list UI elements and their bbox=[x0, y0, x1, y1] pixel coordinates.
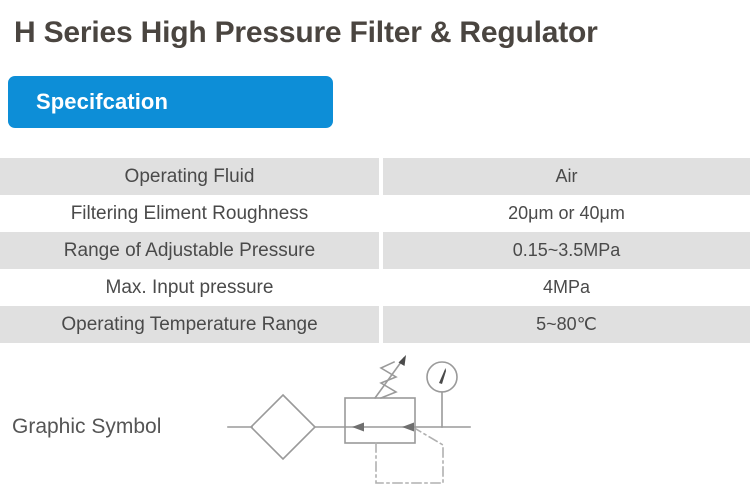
spec-value: 0.15~3.5MPa bbox=[383, 232, 750, 269]
pilot-line-icon bbox=[376, 429, 443, 483]
spec-value: Air bbox=[383, 158, 750, 195]
table-row: Filtering Eliment Roughness 20μm or 40μm bbox=[0, 195, 750, 232]
table-row: Max. Input pressure 4MPa bbox=[0, 269, 750, 306]
spec-label: Filtering Eliment Roughness bbox=[0, 195, 379, 232]
table-row: Range of Adjustable Pressure 0.15~3.5MPa bbox=[0, 232, 750, 269]
spec-label: Operating Temperature Range bbox=[0, 306, 379, 343]
spec-label: Max. Input pressure bbox=[0, 269, 379, 306]
page-title: H Series High Pressure Filter & Regulato… bbox=[14, 15, 740, 51]
section-badge-label: Specifcation bbox=[36, 89, 168, 115]
spec-label: Range of Adjustable Pressure bbox=[0, 232, 379, 269]
graphic-symbol-diagram bbox=[0, 350, 750, 499]
section-badge-specification: Specifcation bbox=[8, 76, 333, 128]
gauge-needle-icon bbox=[439, 368, 446, 384]
table-row: Operating Temperature Range 5~80℃ bbox=[0, 306, 750, 343]
table-row: Operating Fluid Air bbox=[0, 158, 750, 195]
flow-arrow-icon bbox=[402, 423, 414, 432]
specification-table-body: Operating Fluid Air Filtering Eliment Ro… bbox=[0, 158, 750, 343]
flow-arrow-icon bbox=[352, 423, 364, 432]
spec-value: 5~80℃ bbox=[383, 306, 750, 343]
regulator-box-icon bbox=[345, 398, 415, 443]
spec-value: 4MPa bbox=[383, 269, 750, 306]
spec-label: Operating Fluid bbox=[0, 158, 379, 195]
graphic-symbol-section: Graphic Symbol bbox=[0, 350, 750, 499]
spec-value: 20μm or 40μm bbox=[383, 195, 750, 232]
filter-diamond-icon bbox=[251, 395, 315, 459]
specification-table: Operating Fluid Air Filtering Eliment Ro… bbox=[0, 158, 750, 343]
